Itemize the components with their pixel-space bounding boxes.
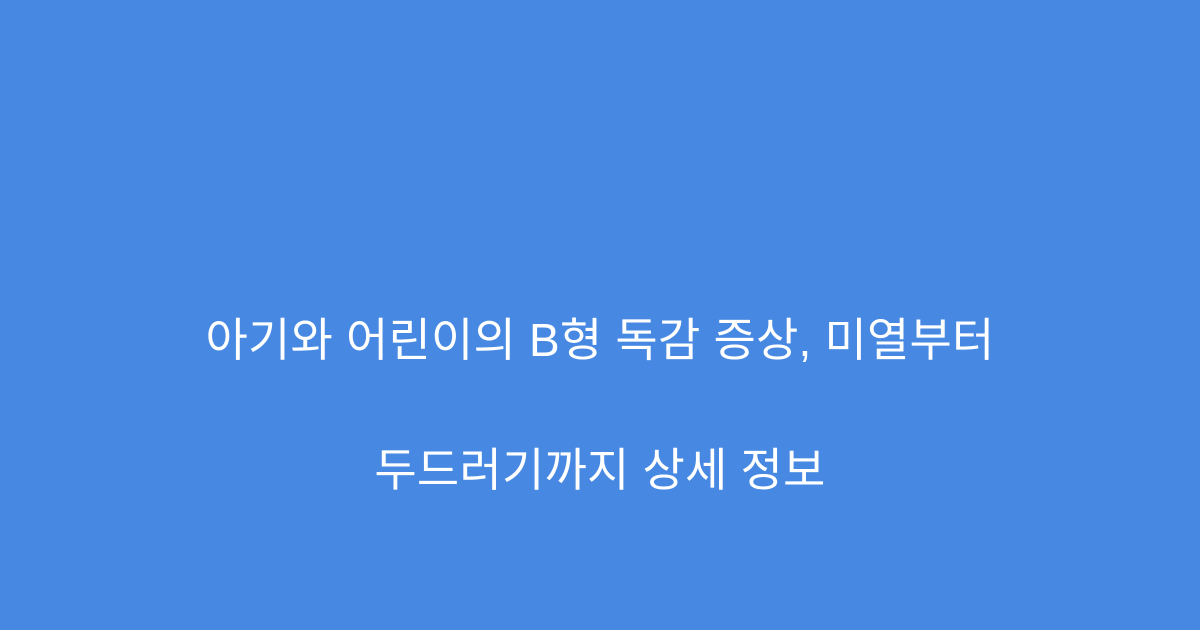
headline-block: 아기와 어린이의 B형 독감 증상, 미열부터 두드러기까지 상세 정보 <box>100 243 1100 568</box>
title-card: 아기와 어린이의 B형 독감 증상, 미열부터 두드러기까지 상세 정보 <box>0 0 1200 630</box>
page-title-line-2: 두드러기까지 상세 정보 <box>100 438 1100 503</box>
page-title: 아기와 어린이의 B형 독감 증상, 미열부터 두드러기까지 상세 정보 <box>100 243 1100 568</box>
page-title-line-1: 아기와 어린이의 B형 독감 증상, 미열부터 <box>100 308 1100 373</box>
